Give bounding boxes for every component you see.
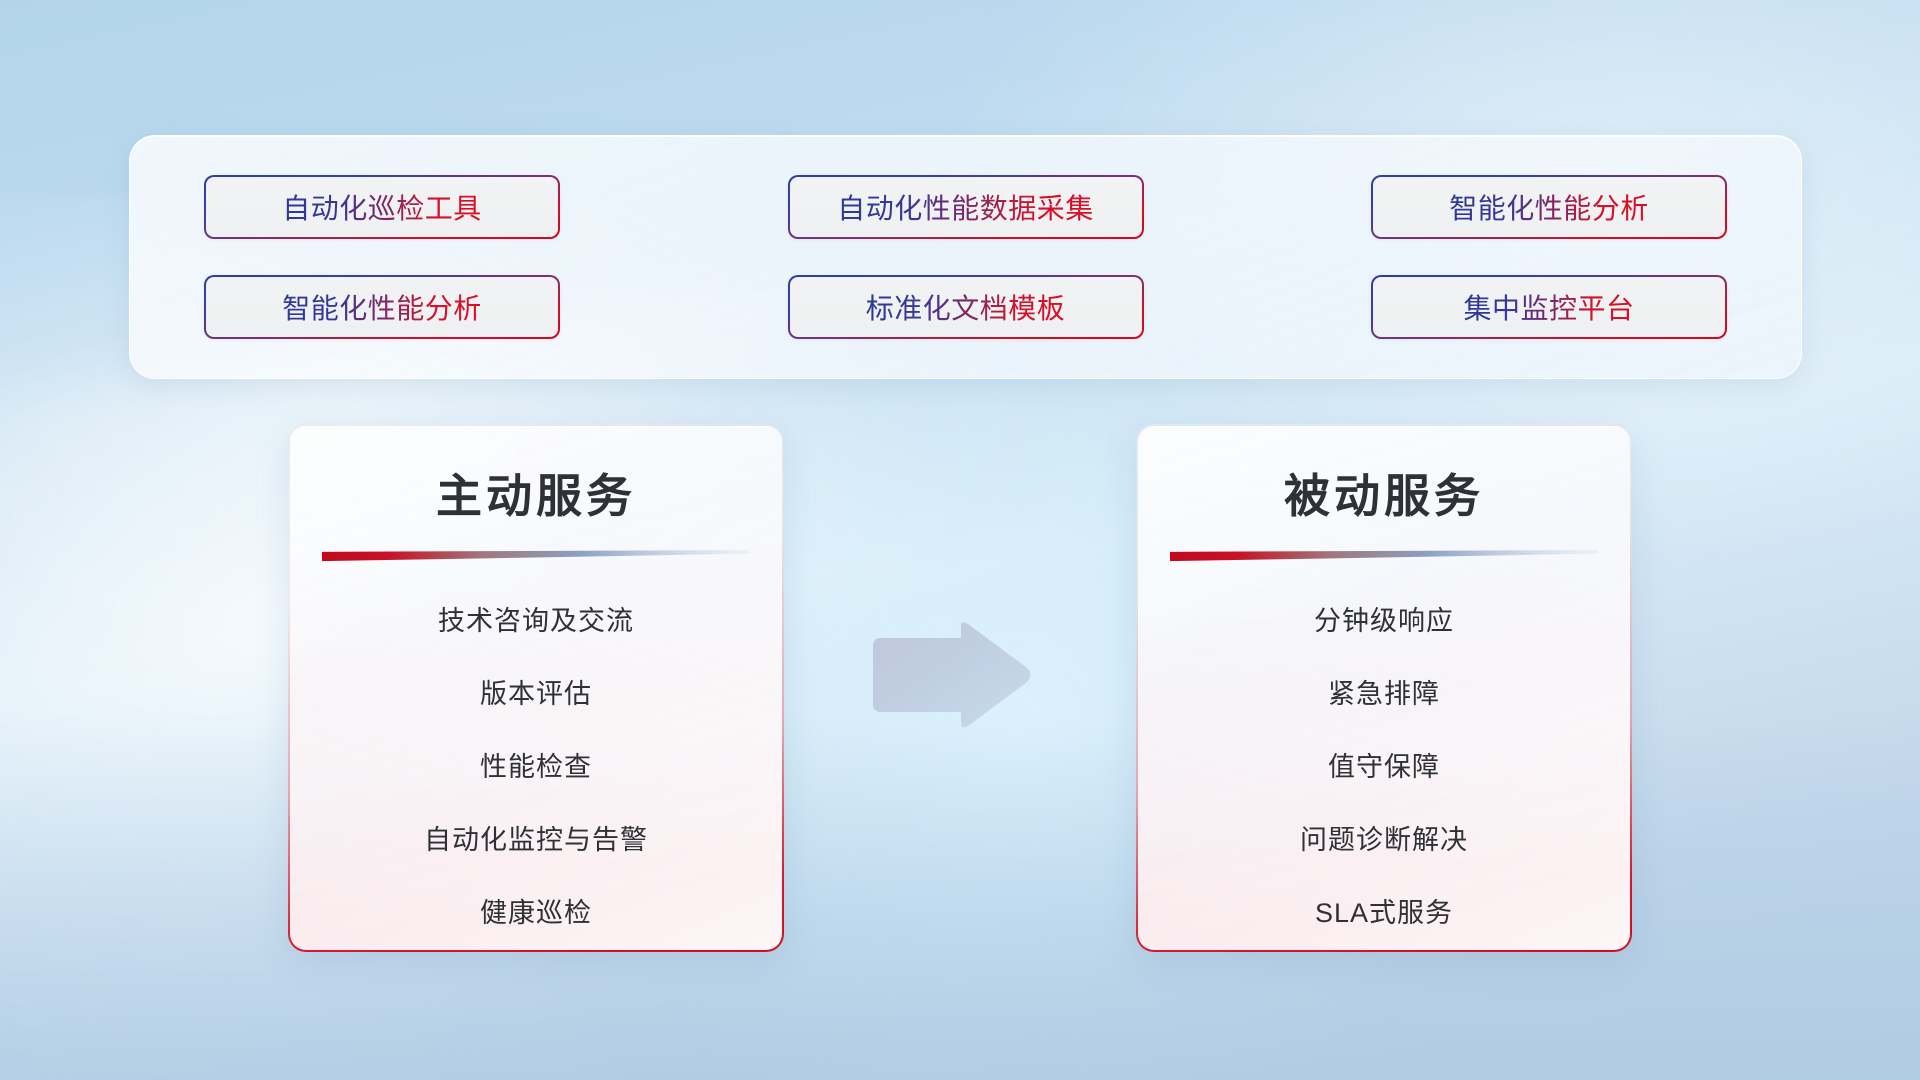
capability-pill-label: 标准化文档模板 [866,287,1066,327]
capability-pill-label: 自动化性能数据采集 [837,187,1094,227]
capability-pill-label: 自动化巡检工具 [282,187,482,227]
service-item-list: 技术咨询及交流 版本评估 性能检查 自动化监控与告警 健康巡检 [290,585,782,950]
capability-pill-standardized-doc-template[interactable]: 标准化文档模板 [788,275,1144,339]
capability-row-1: 自动化巡检工具 自动化性能数据采集 智能化性能分析 [204,175,1727,239]
card-divider-right [1170,550,1598,563]
service-list-item[interactable]: 分钟级响应 [1314,585,1454,658]
service-card-active: 主动服务 技术咨询及交流 版本评估 性能检查 自动化监控与告警 健康巡检 [288,424,784,952]
service-list-item[interactable]: 性能检查 [480,731,592,804]
service-list-item[interactable]: 紧急排障 [1328,658,1440,731]
card-divider-left [322,550,750,563]
capability-row-2: 智能化性能分析 标准化文档模板 集中监控平台 [204,275,1727,339]
capability-pill-centralized-monitoring-platform[interactable]: 集中监控平台 [1371,275,1727,339]
capability-pill-label: 智能化性能分析 [1449,187,1649,227]
service-list-item[interactable]: 问题诊断解决 [1300,804,1468,877]
service-list-item[interactable]: 技术咨询及交流 [438,585,634,658]
service-list-item[interactable]: SLA式服务 [1315,877,1453,950]
capability-pill-label: 集中监控平台 [1463,287,1634,327]
service-list-item[interactable]: 健康巡检 [480,877,592,950]
capability-pill-intelligent-performance-analysis-a[interactable]: 智能化性能分析 [1371,175,1727,239]
service-item-list: 分钟级响应 紧急排障 值守保障 问题诊断解决 SLA式服务 [1138,585,1630,950]
capability-pill-label: 智能化性能分析 [282,287,482,327]
card-title: 主动服务 [436,460,636,526]
capability-panel: 自动化巡检工具 自动化性能数据采集 智能化性能分析 智能化性能分析 标准化文档模… [129,135,1802,379]
card-title: 被动服务 [1284,460,1484,526]
service-list-item[interactable]: 自动化监控与告警 [424,804,648,877]
capability-pill-automated-performance-collection[interactable]: 自动化性能数据采集 [788,175,1144,239]
service-card-passive: 被动服务 分钟级响应 紧急排障 值守保障 问题诊断解决 SLA式服务 [1136,424,1632,952]
arrow-right-icon [869,620,1033,730]
capability-pill-intelligent-performance-analysis-b[interactable]: 智能化性能分析 [204,275,560,339]
service-list-item[interactable]: 值守保障 [1328,731,1440,804]
service-list-item[interactable]: 版本评估 [480,658,592,731]
capability-pill-automated-inspection-tool[interactable]: 自动化巡检工具 [204,175,560,239]
